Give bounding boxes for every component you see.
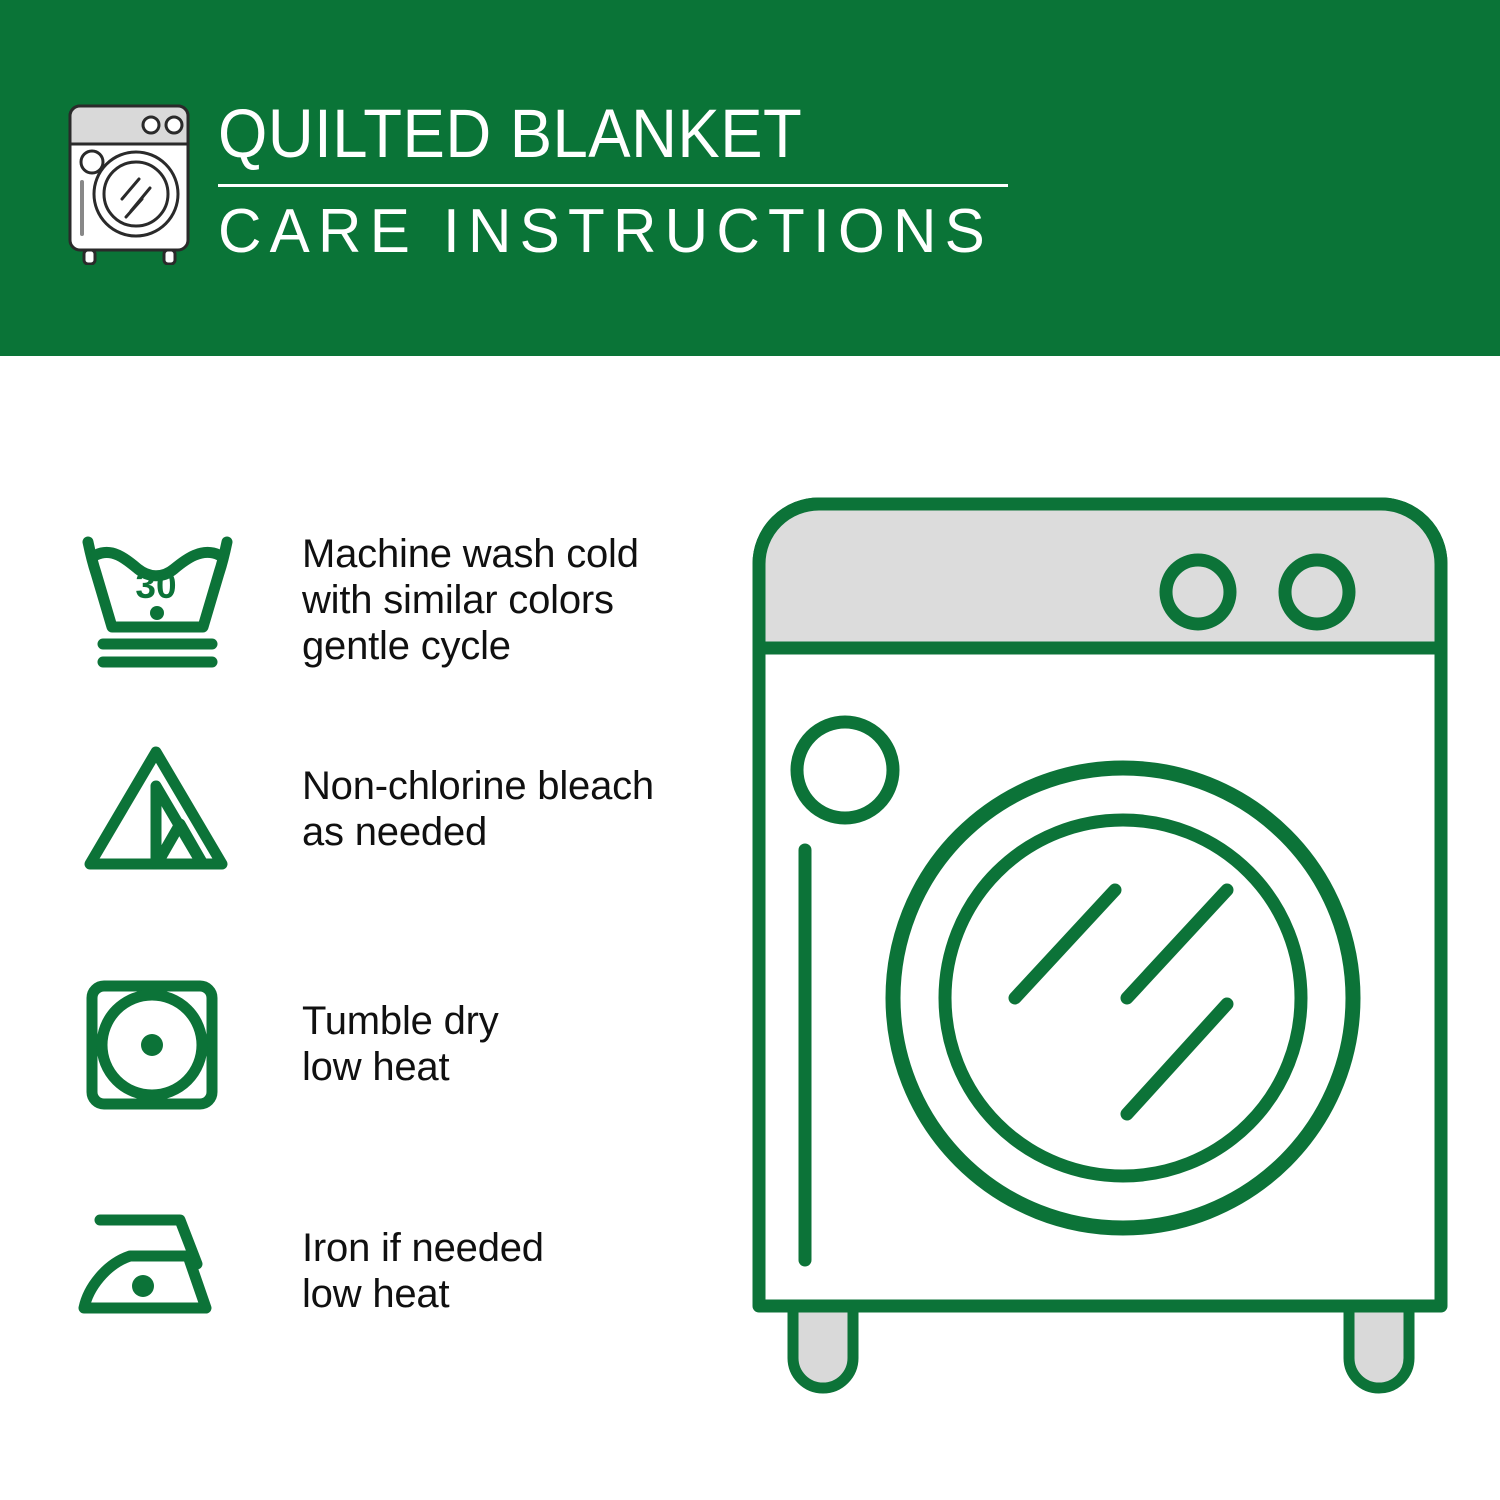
care-label-iron: Iron if needed low heat <box>302 1225 544 1317</box>
care-label-line: Non-chlorine bleach <box>302 763 654 809</box>
washing-machine-icon <box>60 100 200 265</box>
page-title: QUILTED BLANKET <box>218 96 954 172</box>
care-instructions-page: QUILTED BLANKET CARE INSTRUCTIONS 3 <box>0 0 1500 1500</box>
title-divider <box>218 184 1008 187</box>
care-row: Iron if needed low heat <box>0 1191 740 1351</box>
care-label-bleach: Non-chlorine bleach as needed <box>302 763 654 855</box>
care-label-line: Machine wash cold <box>302 531 639 577</box>
page-subtitle: CARE INSTRUCTIONS <box>218 197 994 267</box>
header-band: QUILTED BLANKET CARE INSTRUCTIONS <box>0 0 1500 356</box>
detergent-dispenser <box>797 722 893 818</box>
care-row: Tumble dry low heat <box>0 961 740 1126</box>
knob-right <box>1285 560 1349 624</box>
care-label-wash: Machine wash cold with similar colors ge… <box>302 531 639 669</box>
front-load-washing-machine-illustration <box>735 480 1465 1420</box>
non-chlorine-bleach-triangle-icon <box>70 729 270 889</box>
care-label-dry: Tumble dry low heat <box>302 998 499 1090</box>
leg-left <box>793 1302 853 1388</box>
care-instruction-list: 30 Machine wash cold with similar colors… <box>0 356 740 1500</box>
care-label-line: low heat <box>302 1044 499 1090</box>
care-label-line: with similar colors <box>302 577 639 623</box>
care-label-line: Tumble dry <box>302 998 499 1044</box>
knob-left <box>1166 560 1230 624</box>
care-label-line: Iron if needed <box>302 1225 544 1271</box>
iron-low-heat-icon <box>70 1191 270 1351</box>
care-row: Non-chlorine bleach as needed <box>0 724 740 894</box>
care-label-line: as needed <box>302 809 654 855</box>
header-text-block: QUILTED BLANKET CARE INSTRUCTIONS <box>218 96 1018 267</box>
care-row: 30 Machine wash cold with similar colors… <box>0 510 740 690</box>
care-label-line: low heat <box>302 1271 544 1317</box>
care-label-line: gentle cycle <box>302 623 639 669</box>
wash-temperature-label: 30 <box>135 565 176 606</box>
wash-tub-30-gentle-icon: 30 <box>70 520 270 680</box>
tumble-dry-low-icon <box>70 964 270 1124</box>
leg-right <box>1349 1302 1409 1388</box>
